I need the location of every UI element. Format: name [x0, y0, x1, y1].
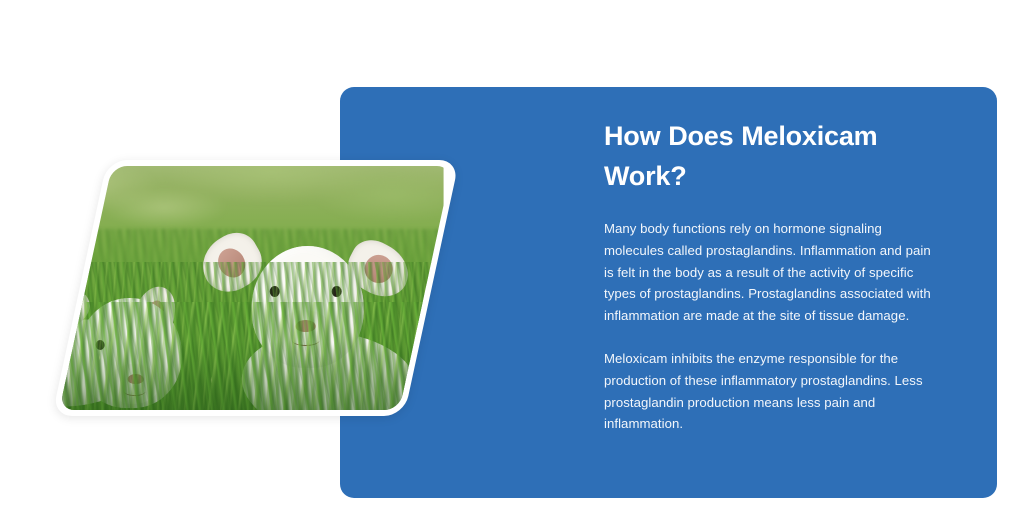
body-paragraph-1: Many body functions rely on hormone sign…: [604, 218, 940, 327]
content-panel: How Does Meloxicam Work? Many body funct…: [340, 87, 997, 498]
grass-shadow-bottom: [59, 341, 443, 410]
lambs-photo-frame: [59, 166, 452, 410]
body-paragraph-2: Meloxicam inhibits the enzyme responsibl…: [604, 348, 940, 435]
page-title: How Does Meloxicam Work?: [604, 116, 940, 196]
panel-text-column: How Does Meloxicam Work? Many body funct…: [604, 116, 940, 435]
page-canvas: How Does Meloxicam Work? Many body funct…: [0, 0, 1024, 523]
paragraph-group: Many body functions rely on hormone sign…: [604, 218, 940, 435]
lambs-photo-card: [52, 160, 459, 416]
lambs-photo-image: [59, 166, 443, 410]
